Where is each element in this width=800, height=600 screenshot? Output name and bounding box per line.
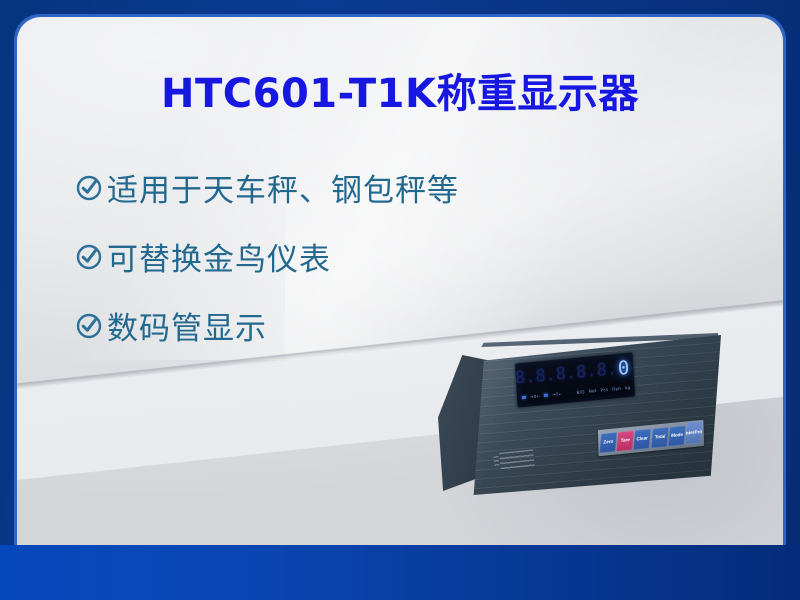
check-circle-icon xyxy=(75,312,103,340)
annunciator-dyn: Dyn xyxy=(612,386,621,392)
list-item: 适用于天车秤、钢包秤等 xyxy=(75,165,635,210)
annunciator-net: Net xyxy=(589,388,597,394)
annunciator-spacer xyxy=(566,393,572,394)
key-zero-label: Zero xyxy=(603,439,613,445)
list-item: 可替换金鸟仪表 xyxy=(75,234,635,279)
key-mode-label: Mode xyxy=(670,432,682,438)
check-circle-icon xyxy=(75,243,103,271)
key-tare[interactable]: Tare xyxy=(616,430,634,451)
weighing-indicator-device: 8.8.8.8.8.8. 0 →0← →T← B/G Net Pcs Dyn k… xyxy=(438,333,728,518)
key-tare-label: Tare xyxy=(620,438,630,444)
feature-label: 数码管显示 xyxy=(107,303,267,348)
key-total[interactable]: Total xyxy=(651,427,669,448)
check-circle-icon xyxy=(75,174,103,202)
key-enter-print[interactable]: Enter Print xyxy=(685,420,703,444)
product-poster: HTC601-T1K称重显示器 适用于天车秤、钢包秤等 xyxy=(0,0,800,600)
led-weight-value: 0 xyxy=(617,358,630,378)
annunciator-indicator-dot xyxy=(544,394,548,397)
product-photo-panel: HTC601-T1K称重显示器 适用于天车秤、钢包秤等 xyxy=(17,17,783,545)
poster-bottom-band xyxy=(0,545,800,600)
key-print-label: Print xyxy=(694,429,703,435)
device-brand-plate xyxy=(499,449,535,470)
key-clear-label: Clear xyxy=(637,436,649,442)
annunciator-tare: →T← xyxy=(552,391,562,397)
key-zero[interactable]: Zero xyxy=(599,432,617,453)
key-total-label: Total xyxy=(654,434,665,440)
key-mode[interactable]: Mode xyxy=(668,425,686,446)
key-enter-label: Enter xyxy=(685,430,695,436)
annunciator-zero: →0← xyxy=(530,393,541,399)
annunciator-kg: kg xyxy=(625,385,631,391)
annunciator-pcs: Pcs xyxy=(600,387,608,393)
feature-label: 可替换金鸟仪表 xyxy=(107,234,331,279)
annunciator-bg: B/G xyxy=(576,389,584,395)
page-title: HTC601-T1K称重显示器 xyxy=(17,61,783,119)
feature-label: 适用于天车秤、钢包秤等 xyxy=(107,165,459,210)
annunciator-indicator-dot xyxy=(522,396,526,399)
key-clear[interactable]: Clear xyxy=(634,428,652,449)
